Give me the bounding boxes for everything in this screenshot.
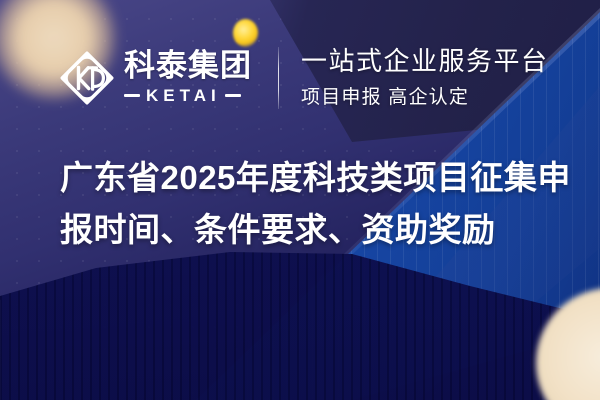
- brand-name-en-row: KETAI: [124, 86, 252, 106]
- tagline-sub: 项目申报 高企认定: [301, 82, 549, 109]
- ketai-diamond-kt-icon: [58, 49, 116, 107]
- brand-rule-left-icon: [124, 94, 140, 97]
- headline-line-1: 广东省2025年度科技类项目征集申: [60, 152, 580, 204]
- promo-banner: 科泰集团 KETAI 一站式企业服务平台 项目申报 高企认定 广东省2025年度…: [0, 0, 600, 400]
- brand-lockup: 科泰集团 KETAI: [124, 50, 252, 106]
- brand-name-cn: 科泰集团: [124, 50, 252, 83]
- tagline-block: 一站式企业服务平台 项目申报 高企认定: [301, 47, 549, 108]
- vertical-divider: [278, 47, 279, 109]
- brand-name-en: KETAI: [146, 86, 221, 106]
- brand-rule-right-icon: [225, 94, 241, 97]
- headline: 广东省2025年度科技类项目征集申 报时间、条件要求、资助奖励: [60, 152, 580, 256]
- tagline-main: 一站式企业服务平台: [301, 47, 549, 76]
- headline-line-2: 报时间、条件要求、资助奖励: [60, 204, 580, 256]
- banner-header: 科泰集团 KETAI 一站式企业服务平台 项目申报 高企认定: [58, 44, 549, 112]
